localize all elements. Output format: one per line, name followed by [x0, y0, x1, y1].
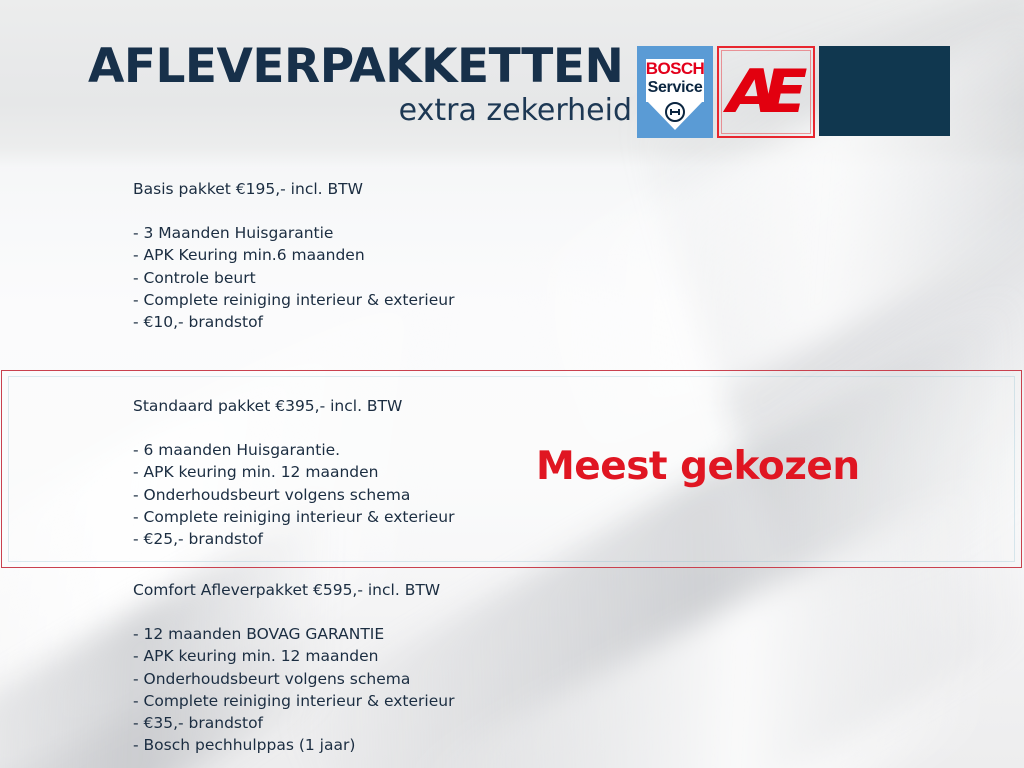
list-item: - APK keuring min. 12 maanden	[133, 645, 454, 667]
bosch-wordmark: BOSCH	[637, 60, 713, 78]
list-item: - Complete reiniging interieur & exterie…	[133, 506, 454, 528]
title-block: AFLEVERPAKKETTEN extra zekerheid	[88, 42, 633, 128]
ae-logo: AE	[717, 46, 815, 138]
list-item: - Onderhoudsbeurt volgens schema	[133, 668, 454, 690]
package-feature-list-comfort: - 12 maanden BOVAG GARANTIE - APK keurin…	[133, 623, 454, 757]
page-subtitle: extra zekerheid	[88, 94, 633, 128]
list-item: - Complete reiniging interieur & exterie…	[133, 289, 454, 311]
list-item: - APK Keuring min.6 maanden	[133, 244, 454, 266]
list-item: - €10,- brandstof	[133, 311, 454, 333]
list-item: - APK keuring min. 12 maanden	[133, 461, 454, 483]
list-item: - 3 Maanden Huisgarantie	[133, 222, 454, 244]
list-item: - €35,- brandstof	[133, 712, 454, 734]
list-item: - Bosch pechhulppas (1 jaar)	[133, 734, 454, 756]
package-block-comfort: Comfort Afleverpakket €595,- incl. BTW -…	[133, 580, 454, 757]
slide-root: AFLEVERPAKKETTEN extra zekerheid BOSCH S…	[0, 0, 1024, 768]
logo-row: BOSCH Service AE	[637, 46, 950, 140]
ae-wordmark: AE	[727, 62, 804, 122]
package-title-basis: Basis pakket €195,- incl. BTW	[133, 179, 454, 200]
page-title: AFLEVERPAKKETTEN	[88, 42, 633, 92]
bosch-armature-icon	[665, 102, 685, 122]
ae-logo-inner-frame: AE	[721, 50, 811, 134]
list-item: - Onderhoudsbeurt volgens schema	[133, 484, 454, 506]
list-item: - Complete reiniging interieur & exterie…	[133, 690, 454, 712]
list-item: - Controle beurt	[133, 267, 454, 289]
slide-header: AFLEVERPAKKETTEN extra zekerheid BOSCH S…	[0, 0, 1024, 168]
package-title-standaard: Standaard pakket €395,- incl. BTW	[133, 396, 454, 417]
list-item: - €25,- brandstof	[133, 528, 454, 550]
bosch-service-label: Service	[637, 79, 713, 97]
status-badge-meest-gekozen: Meest gekozen	[536, 445, 860, 489]
navy-logo-placeholder	[819, 46, 950, 136]
package-feature-list-standaard: - 6 maanden Huisgarantie. - APK keuring …	[133, 439, 454, 550]
bosch-service-logo: BOSCH Service	[637, 46, 713, 138]
package-feature-list-basis: - 3 Maanden Huisgarantie - APK Keuring m…	[133, 222, 454, 333]
package-block-standaard: Standaard pakket €395,- incl. BTW - 6 ma…	[133, 396, 454, 550]
package-block-basis: Basis pakket €195,- incl. BTW - 3 Maande…	[133, 179, 454, 333]
list-item: - 12 maanden BOVAG GARANTIE	[133, 623, 454, 645]
list-item: - 6 maanden Huisgarantie.	[133, 439, 454, 461]
bosch-frame-top	[637, 46, 713, 59]
package-title-comfort: Comfort Afleverpakket €595,- incl. BTW	[133, 580, 454, 601]
